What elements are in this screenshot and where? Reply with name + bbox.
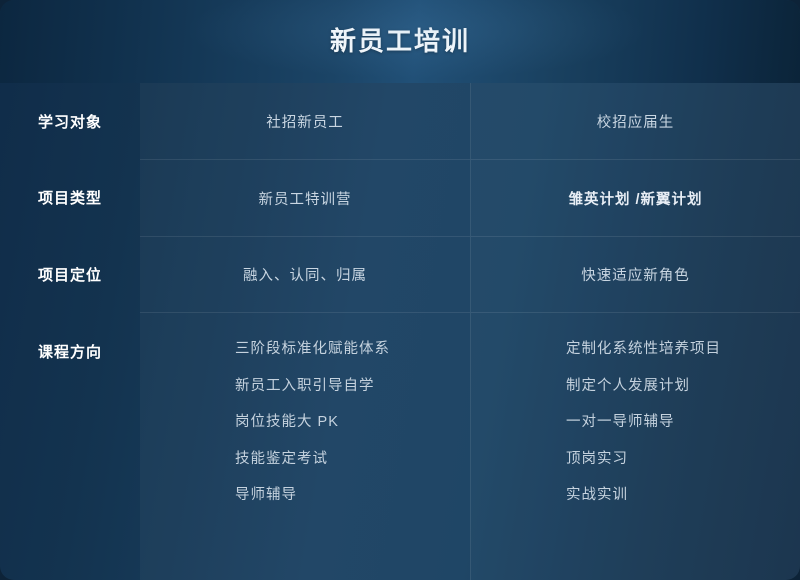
row-label-learning-audience: 学习对象 — [0, 83, 140, 159]
cell-course-direction-campus: 定制化系统性培养项目 制定个人发展计划 一对一导师辅导 顶岗实习 实战实训 — [470, 312, 800, 580]
list-item: 定制化系统性培养项目 — [566, 342, 800, 357]
course-direction-social-list: 三阶段标准化赋能体系 新员工入职引导自学 岗位技能大 PK 技能鉴定考试 导师辅… — [140, 313, 470, 503]
list-item: 新员工入职引导自学 — [235, 379, 470, 394]
list-item: 导师辅导 — [235, 488, 470, 503]
cell-program-positioning-social: 融入、认同、归属 — [140, 236, 470, 312]
table-row: 项目类型 新员工特训营 雏英计划 /新翼计划 — [0, 159, 800, 236]
list-item: 实战实训 — [566, 488, 800, 503]
list-item: 一对一导师辅导 — [566, 415, 800, 430]
list-item: 制定个人发展计划 — [566, 379, 800, 394]
list-item: 顶岗实习 — [566, 452, 800, 467]
course-direction-campus-list: 定制化系统性培养项目 制定个人发展计划 一对一导师辅导 顶岗实习 实战实训 — [471, 313, 800, 503]
list-item: 技能鉴定考试 — [235, 452, 470, 467]
list-item: 岗位技能大 PK — [235, 415, 470, 430]
row-label-program-positioning: 项目定位 — [0, 236, 140, 312]
card-header: 新员工培训 — [0, 0, 800, 83]
page-title: 新员工培训 — [330, 28, 470, 56]
table-row: 项目定位 融入、认同、归属 快速适应新角色 — [0, 236, 800, 312]
training-overview-card: 新员工培训 学习对象 社招新员工 校招应届生 项目类型 新员工特训营 雏英计划 … — [0, 0, 800, 580]
cell-learning-audience-social: 社招新员工 — [140, 83, 470, 159]
row-label-program-type: 项目类型 — [0, 159, 140, 236]
list-item: 三阶段标准化赋能体系 — [235, 342, 470, 357]
cell-program-type-social: 新员工特训营 — [140, 159, 470, 236]
row-label-course-direction: 课程方向 — [0, 312, 140, 580]
cell-program-positioning-campus: 快速适应新角色 — [470, 236, 800, 312]
table-row: 学习对象 社招新员工 校招应届生 — [0, 83, 800, 159]
cell-program-type-campus: 雏英计划 /新翼计划 — [470, 159, 800, 236]
comparison-table: 学习对象 社招新员工 校招应届生 项目类型 新员工特训营 雏英计划 /新翼计划 … — [0, 83, 800, 580]
cell-learning-audience-campus: 校招应届生 — [470, 83, 800, 159]
table-row: 课程方向 三阶段标准化赋能体系 新员工入职引导自学 岗位技能大 PK 技能鉴定考… — [0, 312, 800, 580]
cell-course-direction-social: 三阶段标准化赋能体系 新员工入职引导自学 岗位技能大 PK 技能鉴定考试 导师辅… — [140, 312, 470, 580]
